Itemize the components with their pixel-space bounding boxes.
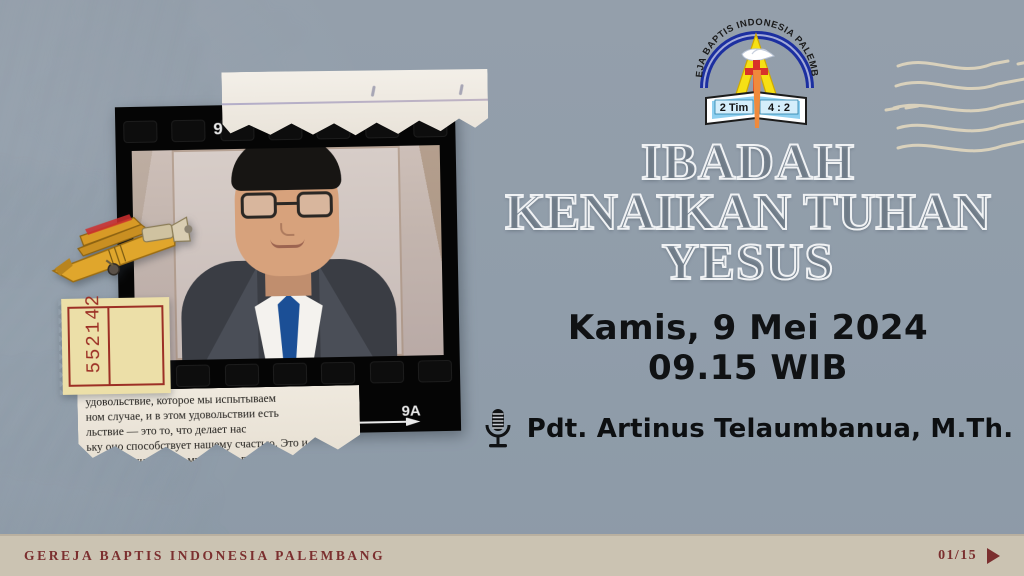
event-schedule: Kamis, 9 Mei 2024 09.15 WIB — [472, 308, 1024, 388]
torn-text-note-decoration: удовольствие, которое мы испытываем ном … — [77, 385, 361, 471]
note-line: ашей жизни. Но как мы можем понять разни — [87, 450, 353, 471]
film-frame-number-top: 9 — [213, 119, 223, 139]
event-time: 09.15 WIB — [472, 348, 1024, 388]
church-logo: GEREJA BAPTIS INDONESIA PALEMBANG 2 Tim … — [682, 8, 832, 132]
microphone-icon — [483, 408, 513, 450]
footer-church-name: GEREJA BAPTIS INDONESIA PALEMBANG — [24, 548, 385, 564]
event-date: Kamis, 9 Mei 2024 — [472, 308, 1024, 348]
note-line: способствует нашему счастью, а ч — [87, 465, 353, 471]
speaker-row: Pdt. Artinus Telaumbanua, M.Th. — [472, 408, 1024, 450]
page-title: IBADAH KENAIKAN TUHAN YESUS — [472, 138, 1024, 288]
event-info-column: IBADAH KENAIKAN TUHAN YESUS Kamis, 9 Mei… — [472, 138, 1024, 450]
logo-verse-right: 4 : 2 — [768, 102, 790, 114]
film-arrow-icon — [351, 417, 421, 426]
slide-canvas: 9 9 9A — [0, 0, 1024, 576]
speaker-name: Pdt. Artinus Telaumbanua, M.Th. — [527, 414, 1014, 444]
title-line-1: IBADAH — [472, 138, 1024, 188]
footer-pagination[interactable]: 01/15 — [938, 548, 1000, 564]
vintage-ticket-decoration: 552142 — [61, 297, 171, 395]
logo-verse-left: 2 Tim — [720, 102, 749, 114]
next-arrow-icon[interactable] — [987, 548, 1000, 564]
ticket-number: 552142 — [82, 293, 105, 373]
title-line-3: YESUS — [472, 238, 1024, 288]
page-number: 01/15 — [938, 548, 977, 564]
title-line-2: KENAIKAN TUHAN — [472, 188, 1024, 238]
film-sprockets-bottom — [128, 359, 452, 389]
footer-bar: GEREJA BAPTIS INDONESIA PALEMBANG 01/15 — [0, 534, 1024, 576]
eyeglasses — [241, 191, 333, 219]
